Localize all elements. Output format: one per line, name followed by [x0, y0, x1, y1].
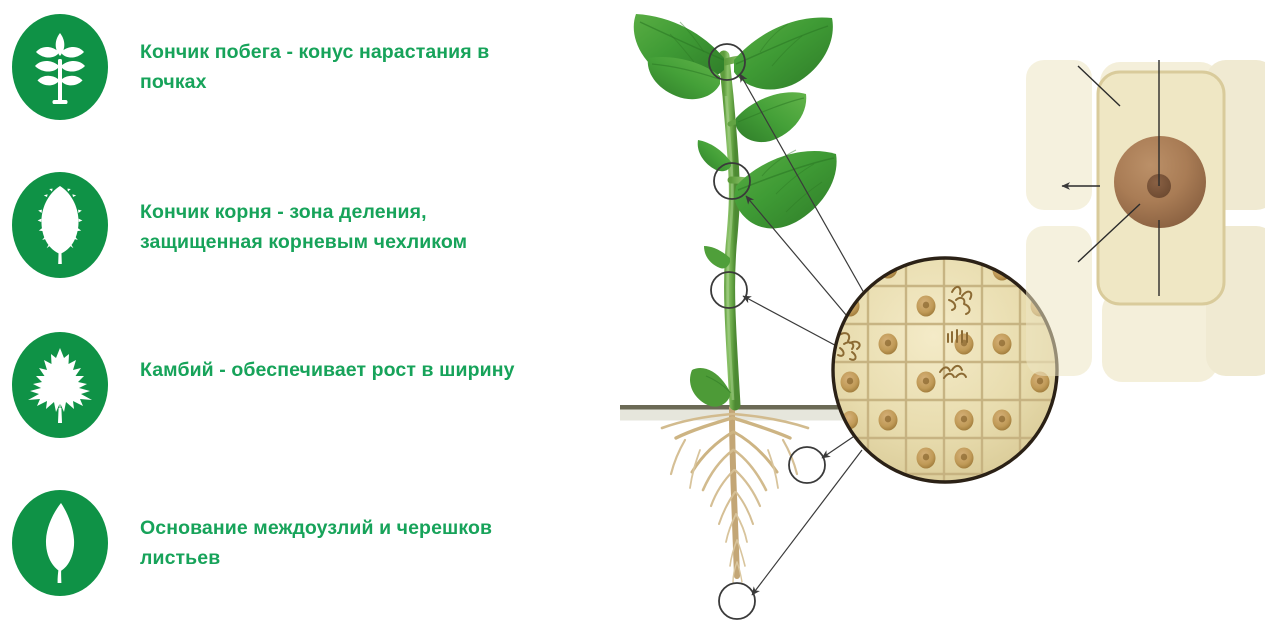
illustration-svg: [600, 0, 1265, 621]
maple-lobed-leaf-icon: [12, 332, 108, 438]
single-cell-diagram: [1026, 60, 1265, 382]
arrow-to-root-tip: [752, 450, 862, 595]
growth-zone-marker-root-tip: [719, 583, 755, 619]
arrow-to-cambium: [743, 296, 844, 350]
smooth-narrow-leaf-icon: [12, 490, 108, 596]
legend-item-root-tip[interactable]: Кончик корня - зона деления, защищенная …: [0, 172, 560, 302]
legend-item-label: Камбий - обеспечивает рост в ширину: [140, 356, 540, 386]
plant-growth-zones-infographic: Кончик побега - конус нарастания в почка…: [0, 0, 1265, 621]
root-system: [662, 408, 808, 582]
legend-item-label: Кончик побега - конус нарастания в почка…: [140, 38, 540, 97]
legend-panel: Кончик побега - конус нарастания в почка…: [0, 0, 600, 621]
legend-item-internode-base[interactable]: Основание междоузлий и черешков листьев: [0, 490, 560, 620]
legend-item-label: Кончик корня - зона деления, защищенная …: [140, 198, 540, 257]
sprout-seedling-icon: [12, 14, 108, 120]
legend-item-shoot-tip[interactable]: Кончик побега - конус нарастания в почка…: [0, 14, 560, 144]
plant-cell-illustration: Ядрышко Оболочка Ядро Цитоплазма: [600, 0, 1265, 621]
legend-item-label: Основание междоузлий и черешков листьев: [140, 514, 540, 573]
legend-item-cambium[interactable]: Камбий - обеспечивает рост в ширину: [0, 332, 560, 462]
serrated-oval-leaf-icon: [12, 172, 108, 278]
